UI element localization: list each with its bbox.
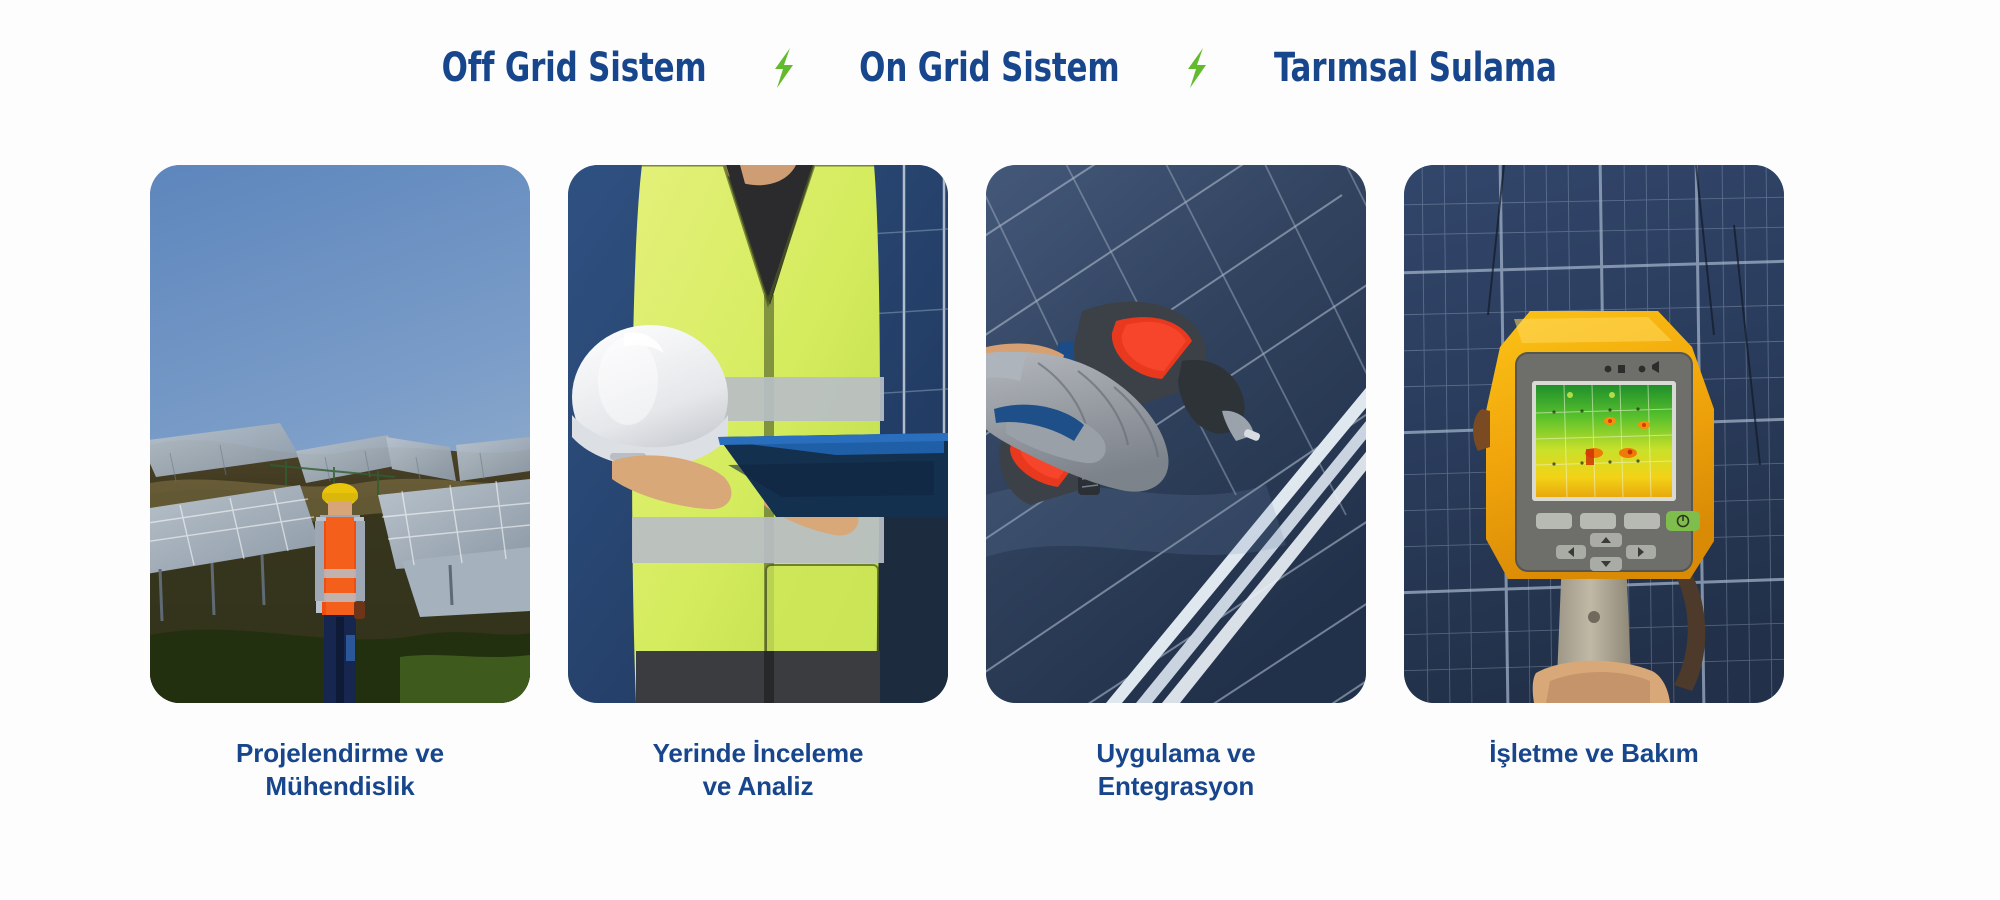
service-card-caption: Projelendirme ve Mühendislik bbox=[150, 737, 530, 804]
hero-nav-item-on-grid[interactable]: On Grid Sistem bbox=[860, 48, 1120, 88]
thermal-camera-inspection-photo[interactable] bbox=[1404, 165, 1784, 703]
service-card[interactable]: İşletme ve Bakım bbox=[1404, 165, 1784, 804]
hero-nav-item-tarimsal-sulama[interactable]: Tarımsal Sulama bbox=[1274, 48, 1557, 88]
installation-drill-photo[interactable] bbox=[986, 165, 1366, 703]
service-card[interactable]: Projelendirme ve Mühendislik bbox=[150, 165, 530, 804]
hero-nav-item-off-grid[interactable]: Off Grid Sistem bbox=[442, 48, 707, 88]
service-card-caption: Uygulama ve Entegrasyon bbox=[986, 737, 1366, 804]
service-card[interactable]: Uygulama ve Entegrasyon bbox=[986, 165, 1366, 804]
solar-farm-worker-photo[interactable] bbox=[150, 165, 530, 703]
service-card-grid: Projelendirme ve Mühendislik bbox=[150, 165, 1790, 804]
service-card[interactable]: Yerinde İnceleme ve Analiz bbox=[568, 165, 948, 804]
hero-nav: Off Grid Sistem On Grid Sistem Tarımsal … bbox=[0, 46, 2000, 90]
lightning-bolt-icon bbox=[1179, 46, 1213, 90]
engineer-clipboard-photo[interactable] bbox=[568, 165, 948, 703]
service-card-caption: İşletme ve Bakım bbox=[1404, 737, 1784, 770]
service-card-caption: Yerinde İnceleme ve Analiz bbox=[568, 737, 948, 804]
lightning-bolt-icon bbox=[766, 46, 800, 90]
